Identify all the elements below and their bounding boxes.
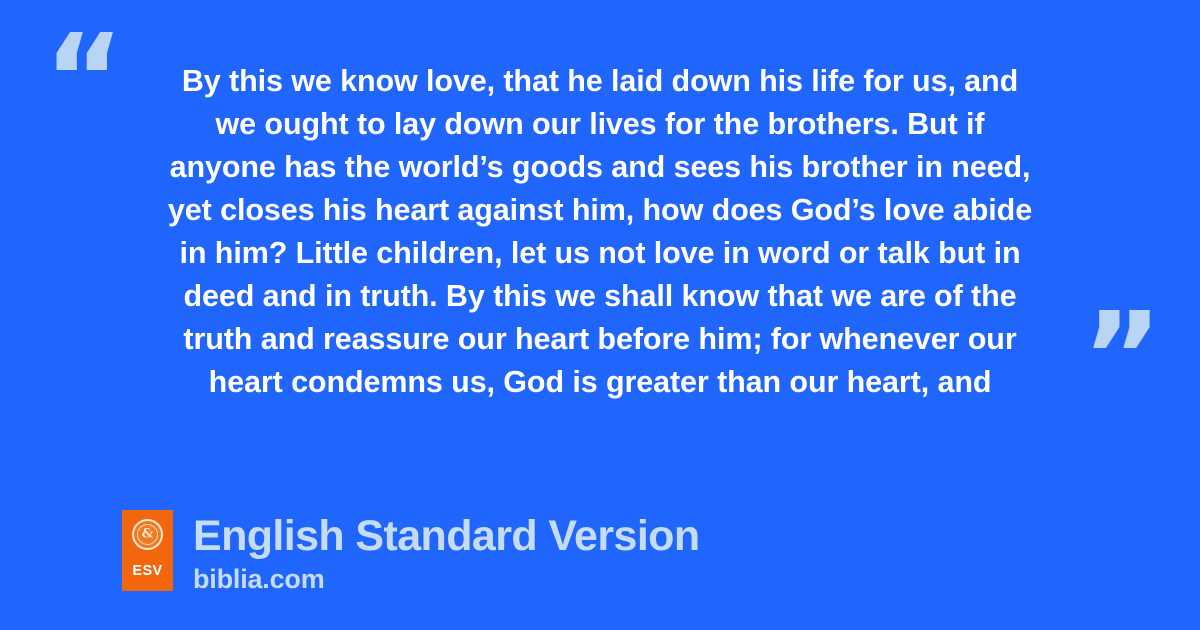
verse-line: yet closes his heart against him, how do…	[110, 189, 1090, 232]
esv-seal-icon: &	[132, 519, 163, 550]
verse-line: in him? Little children, let us not love…	[110, 232, 1090, 275]
verse-line: heart condemns us, God is greater than o…	[110, 361, 1090, 404]
esv-abbreviation-label: ESV	[132, 563, 162, 579]
closing-quote-icon: ”	[1082, 296, 1162, 418]
bible-verse-card: “ By this we know love, that he laid dow…	[0, 0, 1200, 630]
verse-line: By this we know love, that he laid down …	[110, 60, 1090, 103]
verse-line: anyone has the world’s goods and sees hi…	[110, 146, 1090, 189]
esv-seal-monogram: &	[142, 528, 154, 541]
verse-text: By this we know love, that he laid down …	[110, 60, 1090, 404]
attribution-footer: & ESV English Standard Version biblia.co…	[122, 510, 700, 594]
verse-line: truth and reassure our heart before him;…	[110, 318, 1090, 361]
esv-logo: & ESV	[122, 510, 173, 591]
verse-line: deed and in truth. By this we shall know…	[110, 275, 1090, 318]
bible-version-name: English Standard Version	[193, 512, 700, 561]
attribution-text-group: English Standard Version biblia.com	[193, 510, 700, 594]
site-url-label[interactable]: biblia.com	[193, 564, 700, 594]
verse-line: we ought to lay down our lives for the b…	[110, 103, 1090, 146]
